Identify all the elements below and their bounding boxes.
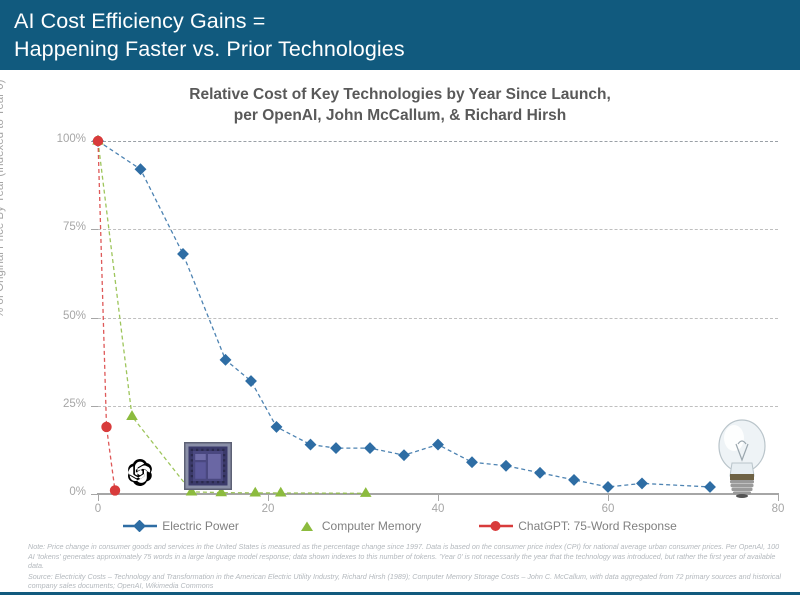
legend-item-computer-memory[interactable]: Computer Memory xyxy=(297,519,421,533)
data-point xyxy=(360,487,372,497)
legend-marker-diamond-icon xyxy=(123,520,157,532)
series-line xyxy=(98,141,115,490)
legend-label-computer-memory: Computer Memory xyxy=(322,519,421,533)
chart-legend: Electric Power Computer Memory ChatGPT: … xyxy=(0,519,800,533)
data-point xyxy=(636,477,648,489)
light-bulb-icon xyxy=(714,418,770,498)
data-point xyxy=(534,467,546,479)
data-point xyxy=(500,460,512,472)
series-electric-power xyxy=(92,135,716,493)
openai-logo-icon xyxy=(124,456,156,488)
data-point xyxy=(110,485,120,495)
series-chatgpt-75-word-response xyxy=(93,136,120,496)
series-line xyxy=(98,141,366,493)
data-point xyxy=(135,163,147,175)
footnotes: Note: Price change in consumer goods and… xyxy=(28,542,784,592)
data-point xyxy=(466,456,478,468)
data-point xyxy=(101,422,111,432)
footnote-source: Source: Electricity Costs – Technology a… xyxy=(28,572,784,591)
legend-label-electric-power: Electric Power xyxy=(162,519,239,533)
data-point xyxy=(602,481,614,493)
legend-item-electric-power[interactable]: Electric Power xyxy=(123,519,239,533)
data-point xyxy=(330,442,342,454)
footnote-note: Note: Price change in consumer goods and… xyxy=(28,542,784,571)
chart-series-layer xyxy=(0,0,800,599)
data-point xyxy=(93,136,103,146)
data-point xyxy=(432,439,444,451)
data-point xyxy=(126,410,138,420)
computer-memory-chip-icon xyxy=(184,442,232,490)
data-point xyxy=(271,421,283,433)
data-point xyxy=(305,439,317,451)
data-point xyxy=(275,487,287,497)
series-line xyxy=(98,141,710,487)
legend-marker-triangle-icon xyxy=(297,520,317,532)
legend-label-chatgpt: ChatGPT: 75-Word Response xyxy=(518,519,677,533)
data-point xyxy=(568,474,580,486)
data-point xyxy=(220,354,232,366)
data-point xyxy=(398,449,410,461)
legend-marker-circle-icon xyxy=(479,520,513,532)
legend-item-chatgpt[interactable]: ChatGPT: 75-Word Response xyxy=(479,519,677,533)
bottom-rule xyxy=(0,592,800,595)
data-point xyxy=(364,442,376,454)
data-point xyxy=(249,487,261,497)
data-point xyxy=(177,248,189,260)
